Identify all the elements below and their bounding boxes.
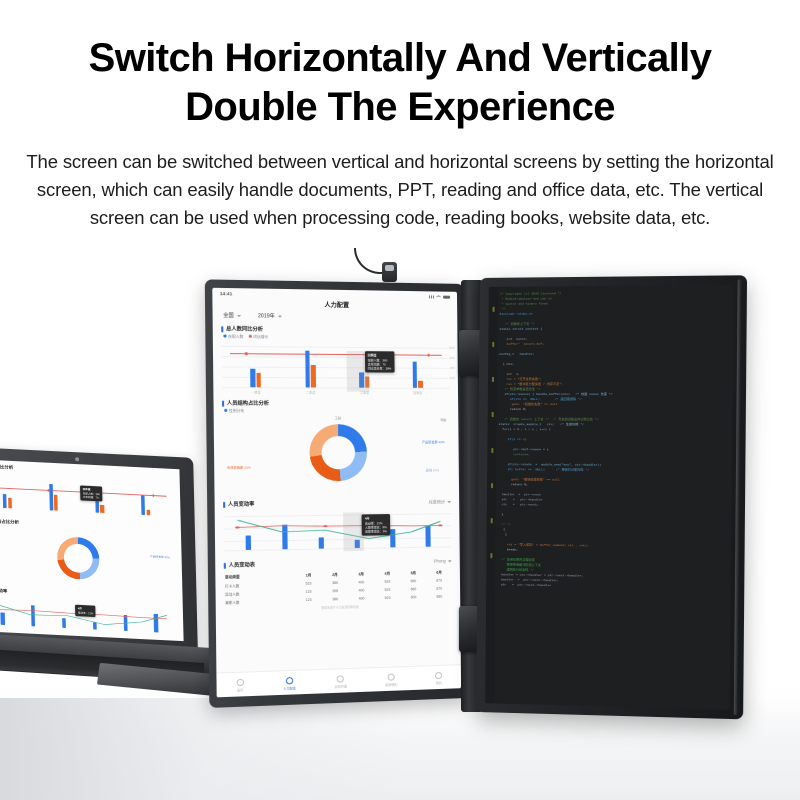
data-table[interactable]: 变动类型 1月 2月 3月 4月 5月 6月 打卡人数 523 xyxy=(224,568,452,612)
combo-tooltip: 4月 变动率：21% 入职率增长：8% 离职率增长：3% xyxy=(362,514,390,536)
gutter-marker xyxy=(491,448,493,453)
section-2-title: 人员结构占比分析 xyxy=(227,400,269,407)
laptop-screen: 总人数同比分析 在职人数 xyxy=(0,459,184,641)
legend-item: 在职人数 xyxy=(223,334,243,339)
chevron-down-icon xyxy=(447,501,451,503)
panel-edge-highlight xyxy=(734,279,742,715)
combo-lines xyxy=(223,507,452,557)
table-right-label[interactable]: Phong xyxy=(434,558,452,563)
left-screen-content[interactable]: 14:41 人力配置 全国 xyxy=(212,288,461,698)
bar-group xyxy=(413,362,423,388)
page-title: Switch Horizontally And Vertically Doubl… xyxy=(0,34,800,132)
y-tick-label: 600 xyxy=(450,356,455,360)
promo-text-block: Switch Horizontally And Vertically Doubl… xyxy=(0,34,800,232)
filter-region-label: 全国 xyxy=(223,312,234,319)
editor-gutter xyxy=(485,287,498,704)
chart-tooltip: 四季度 在职人数：260 去年同期：70 同比增长率：28% xyxy=(365,351,395,373)
section-accent-bar xyxy=(222,400,224,406)
donut-annotation-3: 其他 11% xyxy=(426,468,439,472)
headline-line-2: Double The Experience xyxy=(16,83,784,132)
bottom-tab-bar: 首页 人力配置 绩效管理 薪酬福利 xyxy=(216,664,461,697)
chevron-down-icon xyxy=(278,315,282,317)
left-display-panel: 14:41 人力配置 全国 xyxy=(205,279,468,708)
code-lines: /* Copyright (c) 2019 Licensed */ * Redi… xyxy=(497,290,730,591)
tab-performance[interactable]: 绩效管理 xyxy=(335,675,347,688)
bar-group xyxy=(305,351,315,388)
gutter-marker xyxy=(491,483,493,488)
user-icon xyxy=(435,672,442,679)
laptop-section-3-title: 人员变动率 xyxy=(0,587,8,594)
donut-label-top: 工龄 xyxy=(335,416,341,420)
donut-ring xyxy=(56,536,99,580)
webcam-icon xyxy=(75,457,79,461)
gutter-marker xyxy=(490,553,492,558)
x-axis-labels: 一季度 二季度 三季度 四季度 xyxy=(228,390,444,395)
laptop-section-2-title: 人员结构占比分析 xyxy=(0,518,19,526)
gutter-marker xyxy=(492,342,494,347)
signal-icon xyxy=(429,295,434,298)
section-accent-bar xyxy=(221,326,223,332)
legend-item: 同比增长 xyxy=(249,335,269,340)
wallet-icon xyxy=(388,674,395,681)
section-3-title: 人员变动率 xyxy=(228,500,254,508)
promo-body-text: The screen can be switched between verti… xyxy=(0,148,800,232)
code-editor[interactable]: /* Copyright (c) 2019 Licensed */ * Redi… xyxy=(485,285,733,710)
filter-year-label: 2019年 xyxy=(258,312,275,319)
laptop-combo-tooltip: 4月 变动率：21% xyxy=(75,605,96,617)
bar-series xyxy=(228,346,444,388)
tab-payroll[interactable]: 薪酬福利 xyxy=(385,674,397,687)
legend-item: 性别分布 xyxy=(224,409,244,414)
donut-chart[interactable]: 工龄 年龄 产品研发部 42% 市场营销部 23% 其他 11% xyxy=(222,416,451,497)
battery-icon xyxy=(443,295,450,299)
wifi-icon xyxy=(436,295,441,299)
section-accent-bar xyxy=(224,562,226,568)
gutter-marker xyxy=(491,412,493,417)
donut-ring xyxy=(309,424,367,481)
table-title: 人员变动表 xyxy=(229,561,255,569)
laptop-lid: 总人数同比分析 在职人数 xyxy=(0,447,198,654)
home-icon xyxy=(236,679,243,686)
people-icon xyxy=(286,677,293,684)
donut-label-topright: 年龄 xyxy=(440,418,446,422)
filter-year[interactable]: 2019年 xyxy=(258,312,282,320)
donut-annotation-1: 产品研发部 42% xyxy=(422,440,445,444)
gutter-marker xyxy=(490,518,492,523)
status-time: 14:41 xyxy=(220,291,232,296)
gutter-marker xyxy=(491,377,493,382)
tab-home[interactable]: 首页 xyxy=(236,679,244,692)
section-2-header: 人员结构占比分析 xyxy=(213,395,458,409)
section-3-right-label[interactable]: 月度统计 xyxy=(428,499,451,505)
bar-chart-1[interactable]: 800 600 400 200 xyxy=(221,342,450,396)
usb-c-connector-icon xyxy=(382,262,397,282)
tab-profile[interactable]: 我的 xyxy=(435,672,442,685)
chevron-down-icon xyxy=(448,560,452,562)
chart-icon xyxy=(337,676,344,683)
status-icons xyxy=(429,295,450,299)
right-screen-content[interactable]: /* Copyright (c) 2019 Licensed */ * Redi… xyxy=(485,285,733,710)
legend-2: 性别分布 xyxy=(214,409,459,416)
laptop-dashboard-mirror: 总人数同比分析 在职人数 xyxy=(0,459,184,641)
laptop-chart-tooltip: 四季度 在职人数：260 去年同期：70 xyxy=(80,485,103,501)
combo-chart[interactable]: 4月 变动率：21% 入职率增长：8% 离职率增长：3% xyxy=(223,507,452,557)
laptop-section-1-title: 总人数同比分析 xyxy=(0,463,13,471)
gutter-marker xyxy=(492,307,494,312)
section-1-title: 总人数同比分析 xyxy=(226,325,263,333)
laptop-device: 总人数同比分析 在职人数 xyxy=(0,449,221,703)
hr-dashboard-app: 14:41 人力配置 全国 xyxy=(212,288,461,698)
right-display-panel: /* Copyright (c) 2019 Licensed */ * Redi… xyxy=(476,275,747,719)
dual-screen-monitor: 14:41 人力配置 全国 xyxy=(206,276,766,716)
donut-annotation-2: 市场营销部 23% xyxy=(227,465,251,469)
bar-group xyxy=(251,369,261,388)
tab-hr-allocation[interactable]: 人力配置 xyxy=(283,677,296,690)
laptop-donut-chart: 产品研发部 42% xyxy=(0,525,176,593)
y-tick-label: 400 xyxy=(450,366,455,370)
headline-line-1: Switch Horizontally And Vertically xyxy=(16,34,784,83)
y-tick-label: 800 xyxy=(450,346,455,350)
y-tick-label: 200 xyxy=(450,376,455,380)
filter-region[interactable]: 全国 xyxy=(223,312,241,319)
section-accent-bar xyxy=(223,501,225,507)
chevron-down-icon xyxy=(237,314,241,316)
